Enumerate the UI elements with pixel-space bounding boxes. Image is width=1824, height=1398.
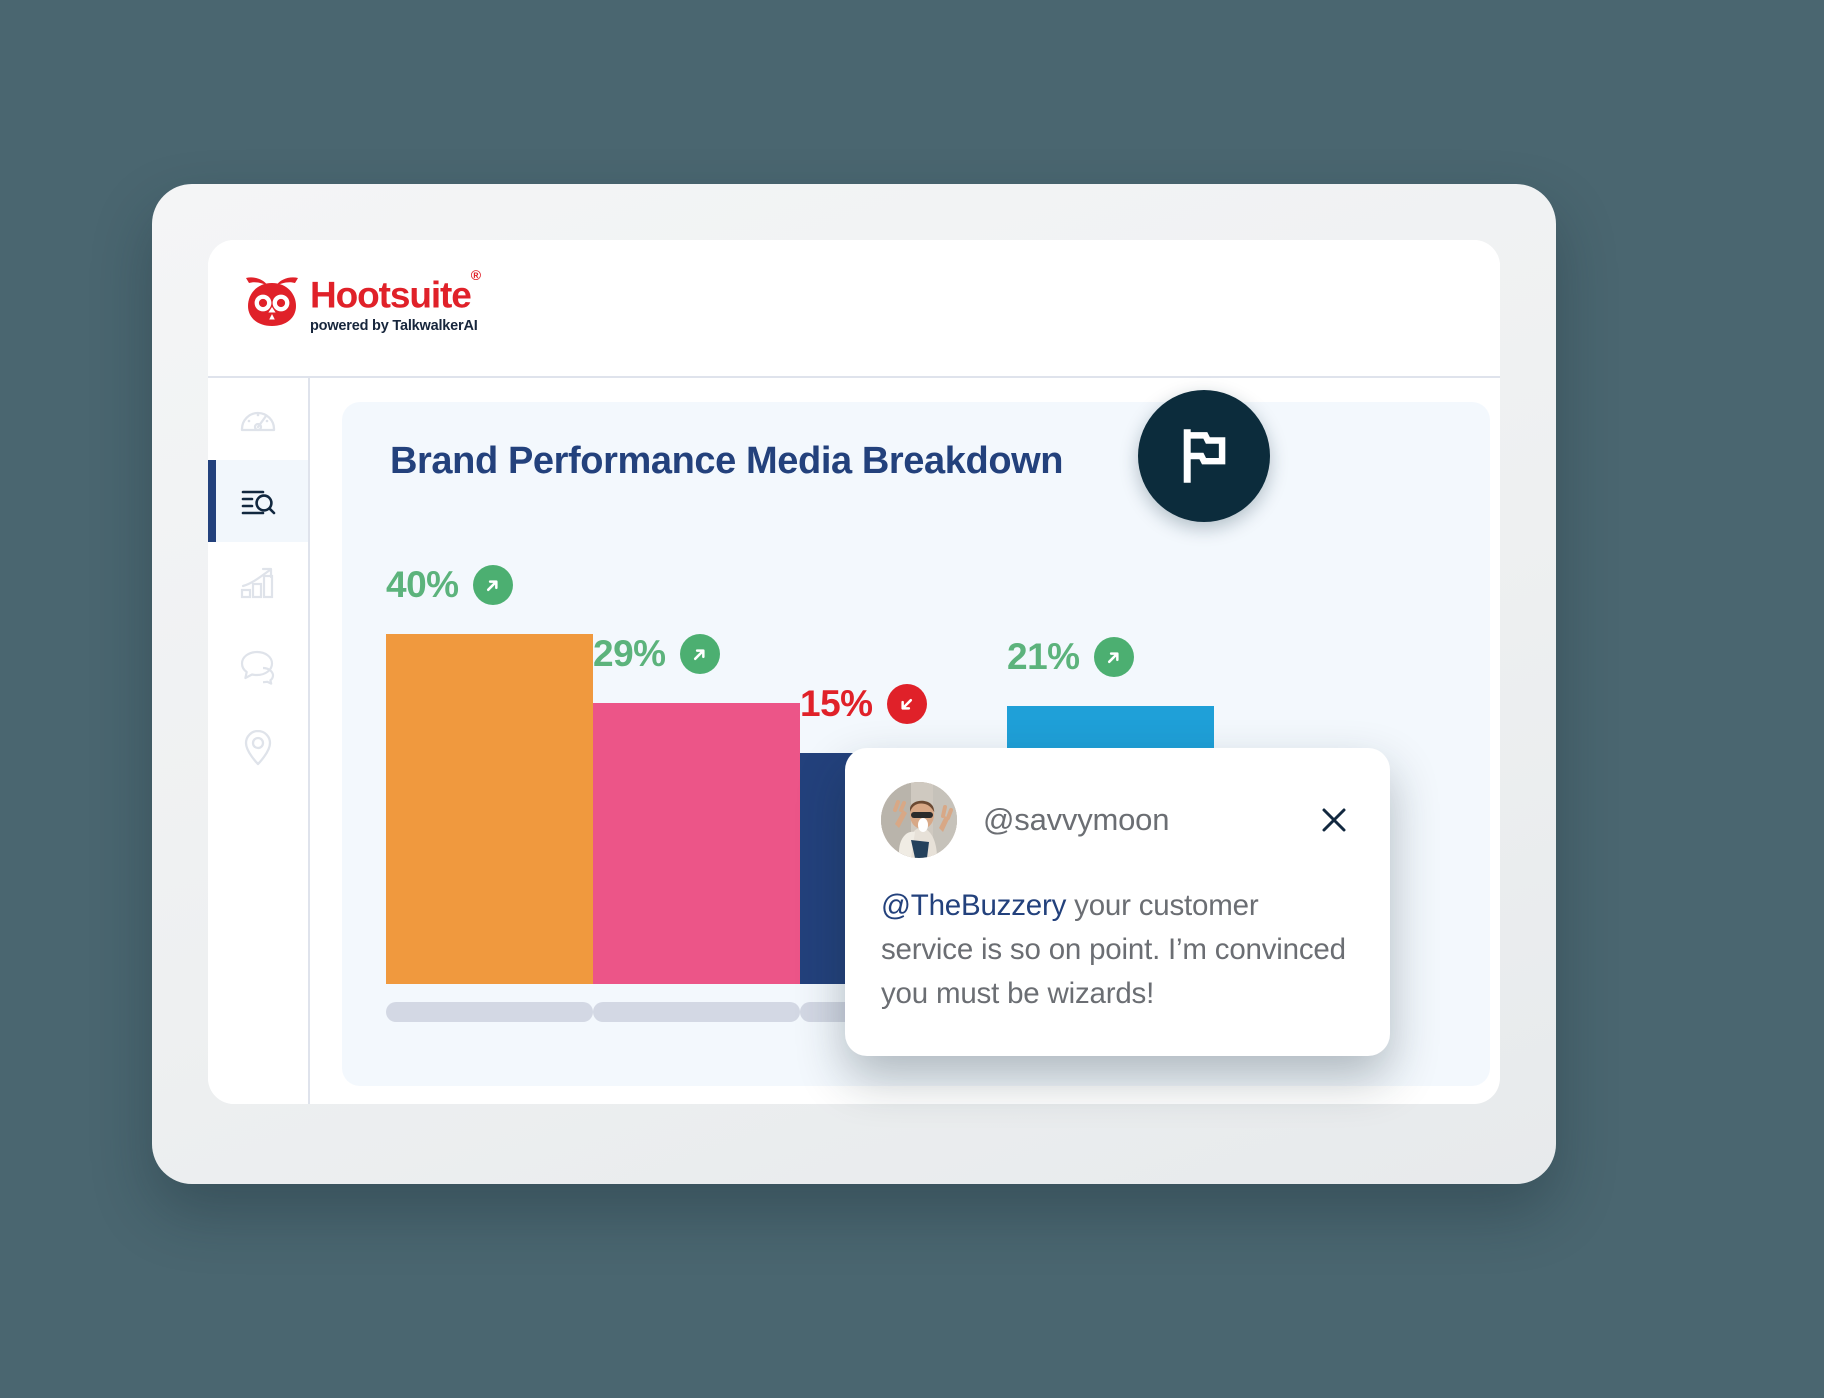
speech-bubbles-icon	[237, 644, 279, 686]
hootsuite-owl-icon	[244, 274, 300, 328]
bar-value: 21%	[1007, 636, 1080, 678]
bar-value-label: 40%	[386, 564, 513, 606]
sidebar-item-analytics[interactable]	[208, 542, 308, 624]
brand-logo[interactable]: Hootsuite® powered by TalkwalkerAI	[244, 270, 480, 334]
bar-value: 15%	[800, 683, 873, 725]
map-pin-icon	[237, 726, 279, 768]
bar-rect	[386, 634, 593, 984]
bar-value-label: 15%	[800, 683, 927, 725]
user-photo-avatar	[881, 782, 957, 858]
close-icon	[1319, 805, 1349, 835]
arrow-down-left-icon	[887, 684, 927, 724]
arrow-up-right-icon	[1094, 637, 1134, 677]
bar-value-label: 21%	[1007, 636, 1134, 678]
tweet-body: @TheBuzzery your customer service is so …	[881, 884, 1354, 1016]
bar-chart-trend-icon	[237, 562, 279, 604]
bar-value: 40%	[386, 564, 459, 606]
brand-wordmark: Hootsuite®	[310, 270, 480, 314]
bar-value: 29%	[593, 633, 666, 675]
sidebar	[208, 378, 310, 1104]
arrow-up-right-icon	[680, 634, 720, 674]
tweet-handle: @savvymoon	[983, 802, 1314, 838]
arrow-up-right-icon	[473, 565, 513, 605]
tweet-mention-link[interactable]: @TheBuzzery	[881, 889, 1066, 922]
chart-title: Brand Performance Media Breakdown	[390, 440, 1063, 483]
gauge-icon	[237, 398, 279, 440]
bar-value-label: 29%	[593, 633, 720, 675]
flag-badge[interactable]	[1138, 390, 1270, 522]
close-button[interactable]	[1314, 800, 1354, 840]
flag-icon	[1173, 425, 1235, 487]
registered-trademark-mark: ®	[471, 267, 480, 283]
app-header: Hootsuite® powered by TalkwalkerAI	[208, 240, 1500, 378]
brand-text: Hootsuite® powered by TalkwalkerAI	[310, 270, 480, 334]
search-list-icon	[237, 480, 279, 522]
sidebar-item-conversations[interactable]	[208, 624, 308, 706]
sidebar-item-locations[interactable]	[208, 706, 308, 788]
bar-category-placeholder	[386, 1002, 593, 1022]
avatar	[881, 782, 957, 858]
bar-rect	[593, 703, 800, 984]
tweet-card: @savvymoon @TheBuzzery your customer ser…	[845, 748, 1390, 1056]
sidebar-item-search[interactable]	[208, 460, 308, 542]
bar-category-placeholder	[593, 1002, 800, 1022]
brand-tagline: powered by TalkwalkerAI	[310, 318, 480, 334]
sidebar-item-dashboard[interactable]	[208, 378, 308, 460]
tweet-header: @savvymoon	[881, 782, 1354, 858]
